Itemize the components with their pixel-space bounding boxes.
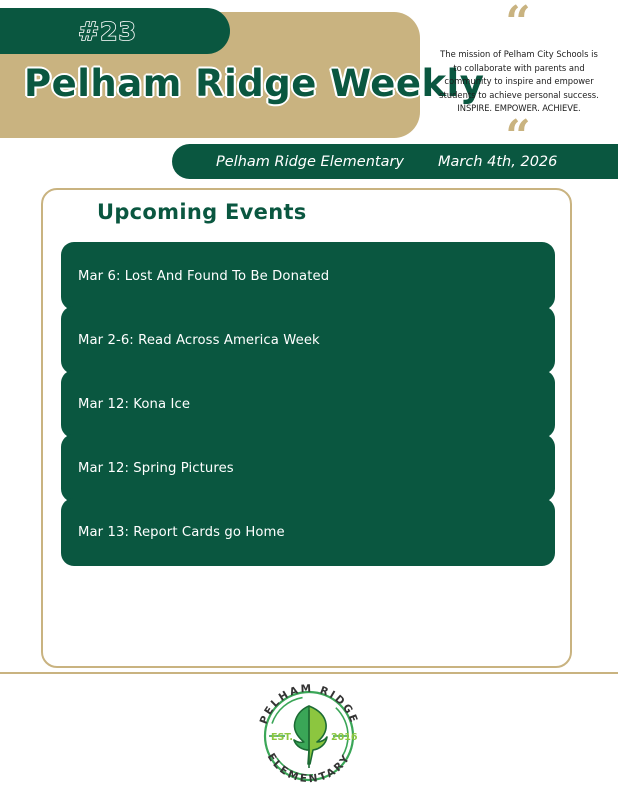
event-label: Mar 2-6: Read Across America Week	[78, 333, 320, 348]
mission-statement-block: “ The mission of Pelham City Schools is …	[430, 12, 608, 150]
school-name-label: Pelham Ridge Elementary	[216, 154, 404, 170]
mission-statement-text: The mission of Pelham City Schools is to…	[430, 48, 608, 102]
quote-open-icon: “	[430, 12, 608, 36]
upcoming-events-heading: Upcoming Events	[97, 200, 307, 224]
list-item: Mar 12: Kona Ice	[61, 370, 555, 438]
school-logo-svg: PELHAM RIDGE ELEMENTARY EST. 2016	[249, 680, 369, 788]
issue-number-badge: #23	[0, 8, 230, 54]
logo-est-text: EST.	[271, 732, 293, 743]
list-item: Mar 13: Report Cards go Home	[61, 498, 555, 566]
newsletter-header: #23 Pelham Ridge Weekly “ The mission of…	[0, 0, 618, 185]
events-list: Mar 6: Lost And Found To Be Donated Mar …	[61, 242, 555, 566]
event-label: Mar 13: Report Cards go Home	[78, 525, 285, 540]
upcoming-events-card: Upcoming Events Mar 6: Lost And Found To…	[41, 188, 572, 668]
school-and-date-bar: Pelham Ridge Elementary March 4th, 2026	[172, 144, 618, 179]
logo-year-text: 2016	[331, 732, 358, 743]
list-item: Mar 6: Lost And Found To Be Donated	[61, 242, 555, 310]
page-title: Pelham Ridge Weekly	[24, 62, 484, 105]
event-label: Mar 12: Kona Ice	[78, 397, 190, 412]
list-item: Mar 12: Spring Pictures	[61, 434, 555, 502]
leaf-icon	[294, 706, 327, 768]
school-logo: PELHAM RIDGE ELEMENTARY EST. 2016	[249, 680, 369, 788]
issue-date-label: March 4th, 2026	[438, 154, 557, 170]
event-label: Mar 12: Spring Pictures	[78, 461, 234, 476]
footer-divider	[0, 672, 618, 674]
issue-number-label: #23	[33, 17, 137, 46]
list-item: Mar 2-6: Read Across America Week	[61, 306, 555, 374]
event-label: Mar 6: Lost And Found To Be Donated	[78, 269, 329, 284]
